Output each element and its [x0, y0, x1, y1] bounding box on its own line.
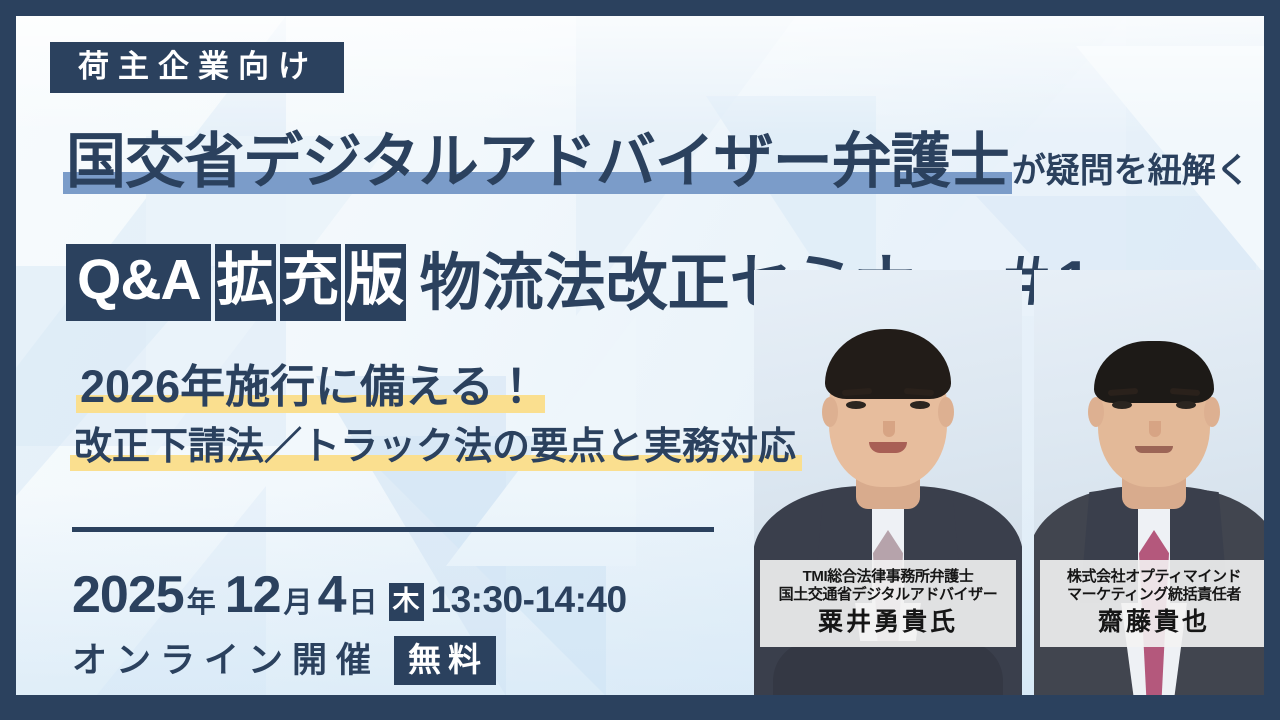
mouth-shape [869, 442, 907, 453]
speaker-nameplate-1: TMI総合法律事務所弁護士 国土交通省デジタルアドバイザー 粟井勇貴氏 [760, 560, 1016, 647]
boxed-char-3: 版 [345, 244, 406, 321]
speaker-org-line-2: マーケティング統括責任者 [1042, 586, 1264, 604]
speaker-org-line-2: 国土交通省デジタルアドバイザー [762, 586, 1014, 604]
ear-left [822, 397, 838, 427]
speaker-org-line-1: 株式会社オプティマインド [1042, 568, 1264, 586]
eye-left [1112, 401, 1132, 409]
crossed-arms-shape [773, 641, 1003, 695]
event-venue: オンライン開催 [72, 643, 380, 678]
speaker-name: 粟井勇貴氏 [762, 608, 1014, 638]
speaker-nameplate-2: 株式会社オプティマインド マーケティング統括責任者 齋藤貴也 [1040, 560, 1264, 647]
subtitle-line-2: 改正下請法／トラック法の要点と実務対応 [74, 428, 796, 466]
event-month: 12 [225, 569, 281, 621]
nose-shape [883, 421, 895, 437]
event-year: 2025 [72, 569, 184, 621]
event-datetime: 2025 年 12 月 4 日 木 13:30-14:40 [72, 569, 627, 623]
boxed-char-1: 拡 [215, 244, 276, 321]
qa-label-box: Q&A [66, 244, 211, 321]
headline-highlighted-text: 国交省デジタルアドバイザー弁護士 [66, 132, 1009, 192]
ear-right [1204, 397, 1220, 427]
eye-left [846, 401, 866, 409]
event-month-unit: 月 [281, 589, 318, 618]
event-year-unit: 年 [184, 589, 225, 618]
speaker-card-1: TMI総合法律事務所弁護士 国土交通省デジタルアドバイザー 粟井勇貴氏 [754, 270, 1022, 695]
event-day: 4 [318, 569, 346, 621]
ear-left [1088, 397, 1104, 427]
event-time: 13:30-14:40 [431, 581, 627, 618]
subtitle-line-1: 2026年施行に備える！ [80, 364, 539, 409]
event-price-badge: 無料 [394, 636, 496, 685]
seminar-banner: 荷主企業向け 国交省デジタルアドバイザー弁護士が疑問を紐解く Q&A拡充版物流法… [0, 0, 1280, 720]
boxed-char-2: 充 [280, 244, 341, 321]
subtitle-1-text: 2026年施行に備える！ [80, 364, 539, 409]
subtitle-2-text: 改正下請法／トラック法の要点と実務対応 [74, 428, 796, 466]
eye-right [910, 401, 930, 409]
horizontal-divider [72, 527, 714, 532]
eye-right [1176, 401, 1196, 409]
headline-line-1: 国交省デジタルアドバイザー弁護士が疑問を紐解く [66, 132, 1250, 192]
headline-tail-text: が疑問を紐解く [1009, 154, 1250, 188]
event-weekday-box: 木 [389, 583, 424, 621]
speaker-name: 齋藤貴也 [1042, 608, 1264, 638]
banner-stage: 荷主企業向け 国交省デジタルアドバイザー弁護士が疑問を紐解く Q&A拡充版物流法… [16, 16, 1264, 695]
ear-right [938, 397, 954, 427]
nose-shape [1149, 421, 1161, 437]
speaker-card-2: 株式会社オプティマインド マーケティング統括責任者 齋藤貴也 [1034, 270, 1264, 695]
mouth-shape [1135, 446, 1173, 453]
speaker-org-line-1: TMI総合法律事務所弁護士 [762, 568, 1014, 586]
event-day-unit: 日 [345, 589, 386, 618]
event-venue-row: オンライン開催 無料 [72, 636, 496, 685]
target-audience-badge: 荷主企業向け [50, 42, 344, 93]
